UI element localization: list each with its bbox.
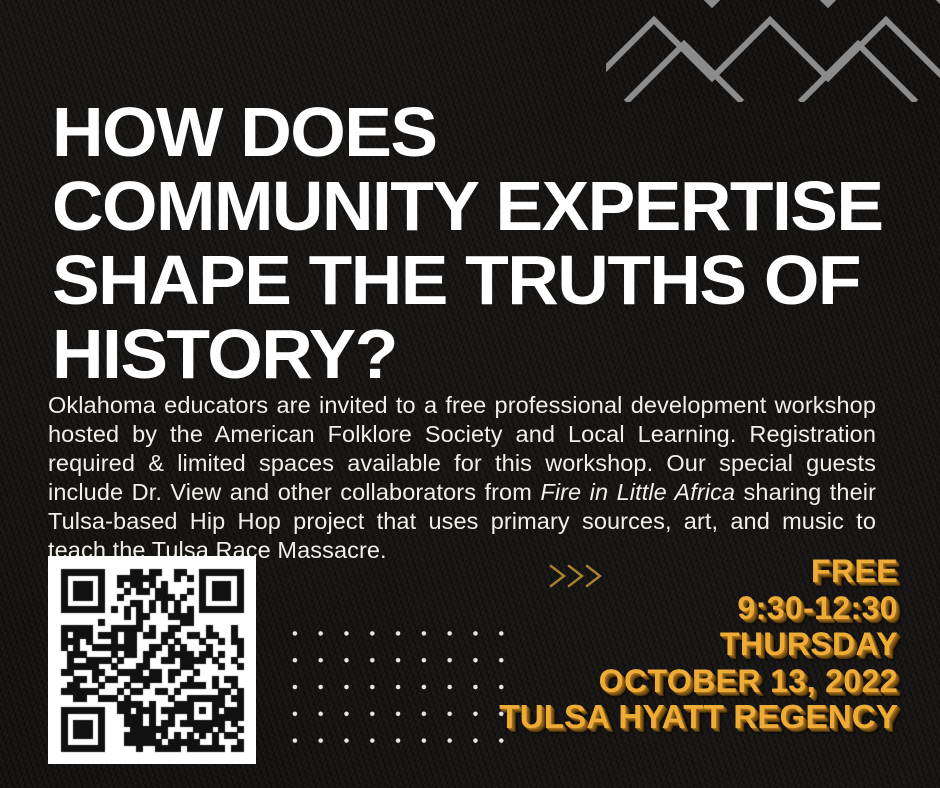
event-details: FREE 9:30-12:30 THURSDAY OCTOBER 13, 202…: [499, 553, 898, 736]
qr-code[interactable]: [48, 556, 256, 764]
page-title: HOW DOES COMMUNITY EXPERTISE SHAPE THE T…: [52, 95, 925, 391]
description-paragraph: Oklahoma educators are invited to a free…: [48, 391, 876, 565]
qr-code-image[interactable]: [48, 556, 256, 764]
detail-date: OCTOBER 13, 2022: [499, 663, 898, 700]
detail-day: THURSDAY: [499, 626, 898, 663]
dot-grid-decoration: [280, 618, 512, 754]
detail-time: 9:30-12:30: [499, 590, 898, 627]
zigzag-chevron-pattern-icon: [606, 0, 940, 102]
description-italic-title: Fire in Little Africa: [540, 479, 735, 505]
event-flyer: HOW DOES COMMUNITY EXPERTISE SHAPE THE T…: [0, 0, 940, 788]
detail-venue: TULSA HYATT REGENCY: [499, 699, 898, 736]
detail-cost: FREE: [499, 553, 898, 590]
